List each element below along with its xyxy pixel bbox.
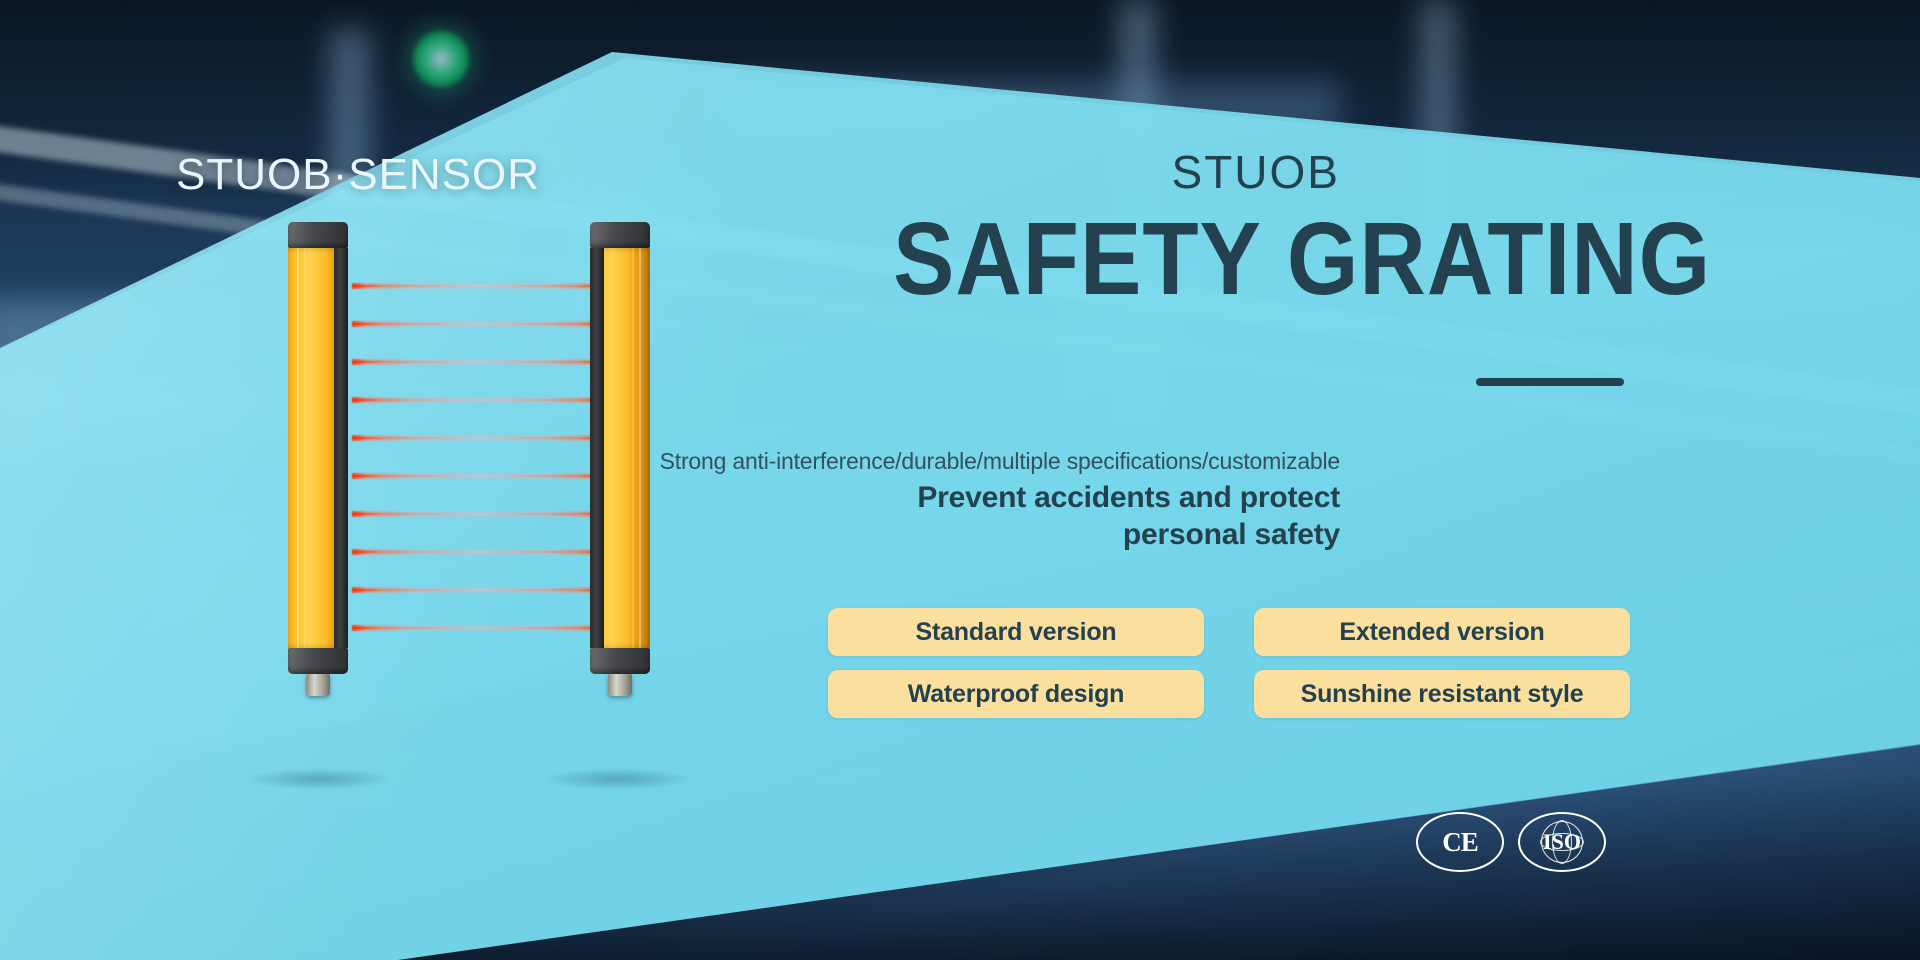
receiver-connector <box>608 674 632 696</box>
brand-logo-watermark: STUOB·SENSOR <box>176 150 540 200</box>
light-curtain-receiver <box>590 222 650 674</box>
emitter-connector <box>306 674 330 696</box>
light-curtain-emitter <box>288 222 348 674</box>
title-divider <box>1476 378 1624 386</box>
iso-label: ISO <box>1543 829 1581 855</box>
emitter-bottom-cap <box>288 648 348 674</box>
feature-badge-extended-version[interactable]: Extended version <box>1254 608 1630 656</box>
emitter-body <box>288 248 348 648</box>
feature-badge-waterproof-design[interactable]: Waterproof design <box>828 670 1204 718</box>
receiver-body <box>590 248 650 648</box>
receiver-lens-strip <box>590 248 604 648</box>
headline-line-1: Prevent accidents and protect <box>917 480 1340 517</box>
headline: Prevent accidents and protect personal s… <box>917 480 1340 553</box>
page-title: SAFETY GRATING <box>893 208 1711 311</box>
brand-name: STUOB <box>1172 145 1340 199</box>
emitter-top-cap <box>288 222 348 248</box>
feature-badge-standard-version[interactable]: Standard version <box>828 608 1204 656</box>
ce-label: CE <box>1442 827 1478 858</box>
feature-badge-sunshine-resistant-style[interactable]: Sunshine resistant style <box>1254 670 1630 718</box>
tagline: Strong anti-interference/durable/multipl… <box>660 448 1340 475</box>
certification-group: CE ISO <box>1416 812 1606 872</box>
iso-certification-mark: ISO <box>1518 812 1606 872</box>
emitter-lens-strip <box>334 248 348 648</box>
headline-line-2: personal safety <box>917 517 1340 554</box>
ce-certification-mark: CE <box>1416 812 1504 872</box>
infrared-beams <box>352 283 608 803</box>
banner-root: STUOB·SENSOR <box>0 0 1920 960</box>
receiver-bottom-cap <box>590 648 650 674</box>
receiver-top-cap <box>590 222 650 248</box>
feature-badge-group: Standard version Extended version Waterp… <box>828 608 1630 718</box>
